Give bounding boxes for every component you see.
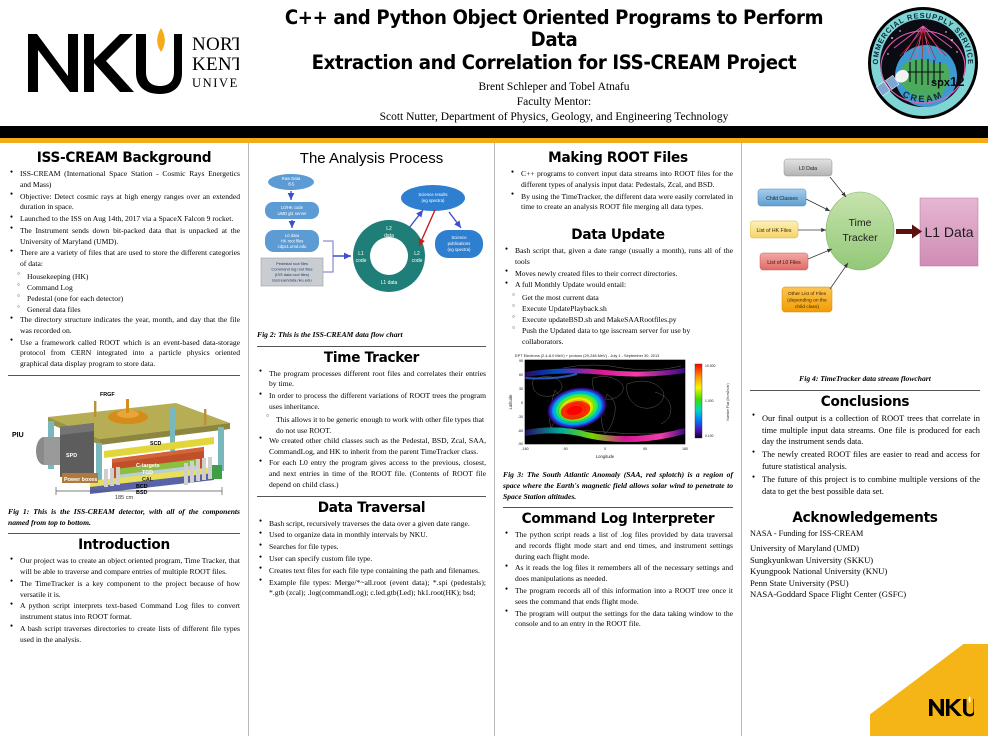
cbar-tick-0p1: 0.100 (705, 434, 714, 438)
list-item: Housekeeping (HK) (17, 271, 240, 282)
list-item: Use a framework called ROOT which is an … (10, 338, 240, 370)
label-scd: SCD (150, 441, 161, 447)
list-item: Launched to the ISS on Aug 14th, 2017 vi… (10, 214, 240, 225)
divider (257, 496, 486, 497)
list-item: A full Monthly Update would entail: (505, 280, 733, 291)
node-pedestal-files: Pedestal root files (276, 261, 308, 266)
xtick-180: 180 (682, 447, 688, 451)
node-science-publications: Science (451, 235, 467, 240)
node-raw-data: Raw Data (282, 176, 301, 181)
section-title-analysis-process: The Analysis Process (257, 150, 486, 167)
list-item: Bash script that, given a date range (us… (505, 246, 733, 268)
background-bullets: ISS-CREAM (International Space Station -… (10, 169, 240, 270)
divider (750, 390, 980, 391)
list-item: Our final output is a collection of ROOT… (752, 413, 980, 449)
figure-3-saa-map: EPT Electrons (2.4-8.0 MeV) + protons (2… (503, 350, 733, 502)
node-l0hk-code: L0/HK code (281, 205, 304, 210)
ack-item: Kyungpook National University (KNU) (750, 566, 980, 578)
ytick-0: 0 (521, 401, 523, 405)
node-other-files: Other List of Files (788, 291, 827, 297)
node-l0-data: L0 data (285, 233, 300, 238)
list-item: Searches for file types. (259, 542, 486, 553)
column-1: ISS-CREAM Background ISS-CREAM (Internat… (0, 143, 248, 736)
column-4: L0 Data Child Classes List of HK Files L… (741, 143, 988, 736)
list-item: Execute UpdatePlayback.sh (512, 303, 733, 314)
background-bullets-after: The directory structure indicates the ye… (10, 315, 240, 370)
page-title-line2: Extraction and Correlation for ISS-CREAM… (275, 52, 833, 75)
detector-diagram-icon: FRGF PIU SCD C-targets TCD CAL BCD BSD S… (8, 381, 240, 499)
figure-2-dataflow: Raw Data ISS L0/HK code UMD gl1 server L… (257, 170, 486, 341)
list-item: Example file types: Merge/*~all.root (ev… (259, 578, 486, 600)
label-ctargets: C-targets (136, 463, 160, 469)
ytick-m30: -30 (518, 415, 523, 419)
list-item: Push the Updated data to tge isscream se… (512, 325, 733, 347)
section-title-command-log: Command Log Interpreter (510, 511, 726, 527)
ytick-90: 90 (519, 359, 523, 363)
chart-title: EPT Electrons (2.4-8.0 MeV) + protons (2… (515, 353, 659, 358)
header-title-block: C++ and Python Object Oriented Programs … (250, 3, 858, 124)
xtick-90: 90 (643, 447, 647, 451)
node-child-classes: Child Classes (766, 196, 798, 202)
section-title-data-traversal: Data Traversal (264, 500, 479, 516)
section-title-data-update: Data Update (510, 227, 726, 243)
label-cal: CAL (142, 477, 154, 483)
label-frgf: FRGF (100, 392, 115, 398)
timetracker-flowchart-icon: L0 Data Child Classes List of HK Files L… (750, 151, 980, 366)
ack-funding: NASA - Funding for ISS-CREAM (750, 529, 980, 540)
label-bsd: BSD (136, 490, 147, 496)
faculty-mentor: Scott Nutter, Department of Physics, Geo… (254, 111, 854, 123)
xtick-m180: -180 (521, 447, 528, 451)
mentor-label: Faculty Mentor: (254, 96, 854, 108)
svg-text:(eg spectra): (eg spectra) (448, 247, 471, 252)
svg-text:(ISS data root files): (ISS data root files) (275, 272, 310, 277)
crs-patch-icon: COMMERCIAL RESUPPLY SERVICES CREAM spx12 (864, 4, 982, 122)
list-item: The newly created ROOT files are easier … (752, 449, 980, 473)
column-2: The Analysis Process Raw Data ISS (248, 143, 494, 736)
list-item: This allows it to be generic enough to w… (266, 414, 486, 436)
node-science-results: Science results (418, 192, 447, 197)
svg-text:Command log root files: Command log root files (271, 267, 312, 272)
svg-text:data: data (384, 233, 394, 239)
list-item: The TimeTracker is a key component to th… (10, 579, 240, 601)
data-update-bullets: Bash script that, given a date range (us… (505, 246, 733, 291)
section-title-background: ISS-CREAM Background (15, 150, 233, 166)
authors: Brent Schleper and Tobel Atnafu (254, 81, 854, 93)
section-title-introduction: Introduction (15, 537, 233, 553)
patch-mission-text: spx12 (931, 74, 964, 89)
time-tracker-sub: This allows it to be generic enough to w… (266, 414, 486, 436)
list-item: The program processes different root fil… (259, 369, 486, 391)
node-l2-code: L2 (414, 251, 420, 257)
header-divider-black (0, 126, 988, 138)
section-title-making-root: Making ROOT Files (510, 150, 726, 166)
figure-1-detector: FRGF PIU SCD C-targets TCD CAL BCD BSD S… (8, 381, 240, 528)
label-tcd: TCD (142, 470, 153, 476)
ack-item: University of Maryland (UMD) (750, 543, 980, 555)
ytick-30: 30 (519, 387, 523, 391)
dataflow-chart-icon: Raw Data ISS L0/HK code UMD gl1 server L… (257, 170, 487, 322)
list-item: A python script interprets text-based Co… (10, 601, 240, 623)
command-log-bullets: The python script reads a list of .log f… (505, 530, 733, 630)
node-time-tracker: Time (849, 217, 872, 229)
list-item: Pedestal (one for each detector) (17, 293, 240, 304)
svg-text:child class): child class) (795, 304, 820, 310)
svg-text:code: code (356, 258, 367, 264)
list-item: The program will output the settings for… (505, 609, 733, 631)
list-item: The python script reads a list of .log f… (505, 530, 733, 562)
svg-text:code: code (412, 258, 423, 264)
divider (8, 375, 240, 376)
list-item: For each L0 entry the program gives acce… (259, 458, 486, 490)
ytick-m60: -60 (518, 429, 523, 433)
list-item: User can specify custom file type. (259, 554, 486, 565)
background-file-types: Housekeeping (HK) Command Log Pedestal (… (17, 271, 240, 315)
list-item: Bash script, recursively traverses the d… (259, 519, 486, 530)
list-item: Moves newly created files to their corre… (505, 269, 733, 280)
xtick-0: 0 (604, 447, 606, 451)
svg-text:(depending on the: (depending on the (787, 298, 827, 304)
list-item: Command Log (17, 282, 240, 293)
divider (8, 533, 240, 534)
list-item: ISS-CREAM (International Space Station -… (10, 169, 240, 191)
label-width: 185 cm (115, 495, 134, 499)
data-traversal-bullets: Bash script, recursively traverses the d… (259, 519, 486, 599)
xtick-m90: -90 (562, 447, 567, 451)
poster-body: ISS-CREAM Background ISS-CREAM (Internat… (0, 143, 988, 736)
node-list-l0-files: List of L0 Files (767, 260, 801, 266)
list-item: Get the most current data (512, 292, 733, 303)
figure-3-caption: Fig 3: The South Atlantic Anomaly (SAA, … (503, 470, 733, 502)
svg-text:publications: publications (448, 241, 471, 246)
node-l1-code: L1 (358, 251, 364, 257)
introduction-bullets: Our project was to create an object orie… (10, 556, 240, 645)
divider (503, 507, 733, 508)
list-item: C++ programs to convert input data strea… (511, 169, 733, 191)
svg-text:(eg spectra): (eg spectra) (422, 198, 445, 203)
list-item: By using the TimeTracker, the different … (511, 192, 733, 214)
svg-text:cdpx1.umd.edu: cdpx1.umd.edu (278, 244, 307, 249)
list-item: The directory structure indicates the ye… (10, 315, 240, 337)
list-item: In order to process the different variat… (259, 391, 486, 413)
nku-logo-line3: UNIVERSITY (192, 76, 239, 90)
list-item: General data files (17, 304, 240, 315)
node-l1-data: L1 data (381, 280, 398, 286)
list-item: Our project was to create an object orie… (10, 556, 240, 578)
list-item: As it reads the log files it remembers a… (505, 563, 733, 585)
node-l1-data-out: L1 Data (924, 224, 973, 240)
list-item: A bash script traverses directories to c… (10, 624, 240, 646)
node-list-hk-files: List of HK Files (757, 228, 792, 234)
figure-2-caption: Fig 2: This is the ISS-CREAM data flow c… (257, 330, 486, 341)
node-l2-data: L2 (386, 226, 392, 232)
cbar-tick-1: 1.000 (705, 399, 714, 403)
section-title-time-tracker: Time Tracker (264, 350, 479, 366)
conclusions-bullets: Our final output is a collection of ROOT… (752, 413, 980, 498)
cbar-tick-10: 10.000 (705, 364, 715, 368)
list-item: The future of this project is to combine… (752, 474, 980, 498)
ytick-m90: -90 (518, 442, 523, 446)
nku-logo-line2: KENTUCKY (192, 54, 239, 75)
page-title-line1: C++ and Python Object Oriented Programs … (275, 7, 833, 52)
column-3: Making ROOT Files C++ programs to conver… (494, 143, 741, 736)
chart-xlabel: Longitude (596, 454, 615, 459)
section-title-conclusions: Conclusions (757, 394, 973, 410)
list-item: Objective: Detect cosmic rays at high en… (10, 192, 240, 214)
section-title-acknowledgements: Acknowledgements (757, 510, 973, 526)
svg-text:isscreamdata.nku.edu: isscreamdata.nku.edu (272, 278, 311, 283)
figure-4-timetracker-flow: L0 Data Child Classes List of HK Files L… (750, 151, 980, 385)
nku-logo: NORTHERN KENTUCKY UNIVERSITY (0, 0, 250, 126)
poster-header: NORTHERN KENTUCKY UNIVERSITY C++ and Pyt… (0, 0, 988, 126)
list-item: Execute updateBSD.sh and MakeSAARootfile… (512, 314, 733, 325)
list-item: There are a variety of files that are us… (10, 248, 240, 270)
figure-4-caption: Fig 4: TimeTracker data stream flowchart (750, 374, 980, 385)
ack-item: Penn State University (PSU) (750, 578, 980, 590)
data-update-sub: Get the most current data Execute Update… (512, 292, 733, 347)
time-tracker-bullets: The program processes different root fil… (259, 369, 486, 413)
node-l0-data: L0 Data (799, 166, 817, 172)
svg-text:HK root files: HK root files (281, 239, 304, 244)
cbar-label: Number Flux (#/cm2/s/sr) (726, 384, 730, 421)
list-item: Used to organize data in monthly interva… (259, 530, 486, 541)
ack-item: Sungkyunkwan University (SKKU) (750, 555, 980, 567)
making-root-bullets: C++ programs to convert input data strea… (511, 169, 733, 213)
ytick-60: 60 (519, 373, 523, 377)
figure-1-caption: Fig 1: This is the ISS-CREAM detector, w… (8, 507, 240, 528)
label-piu: PIU (12, 432, 24, 439)
svg-text:ISS: ISS (288, 182, 295, 187)
label-power-boxes: Power boxes (64, 477, 97, 483)
chart-ylabel: Latitude (508, 394, 513, 410)
list-item: Creates text files for each file type co… (259, 566, 486, 577)
svg-text:Tracker: Tracker (842, 232, 878, 244)
nku-logo-mark: NORTHERN KENTUCKY UNIVERSITY (24, 26, 239, 100)
list-item: We created other child classes such as t… (259, 436, 486, 458)
mission-patch: COMMERCIAL RESUPPLY SERVICES CREAM spx12 (858, 0, 988, 126)
list-item: The Instrument sends down bit-packed dat… (10, 226, 240, 248)
divider (257, 346, 486, 347)
svg-text:UMD gl1 server: UMD gl1 server (277, 211, 307, 216)
list-item: The program records all of this informat… (505, 586, 733, 608)
label-spd: SPD (66, 453, 77, 459)
ack-item: NASA-Goddard Space Flight Center (GSFC) (750, 589, 980, 601)
time-tracker-bullets-after: We created other child classes such as t… (259, 436, 486, 491)
saa-heatmap-chart: EPT Electrons (2.4-8.0 MeV) + protons (2… (503, 350, 731, 462)
nku-logo-line1: NORTHERN (192, 34, 239, 55)
